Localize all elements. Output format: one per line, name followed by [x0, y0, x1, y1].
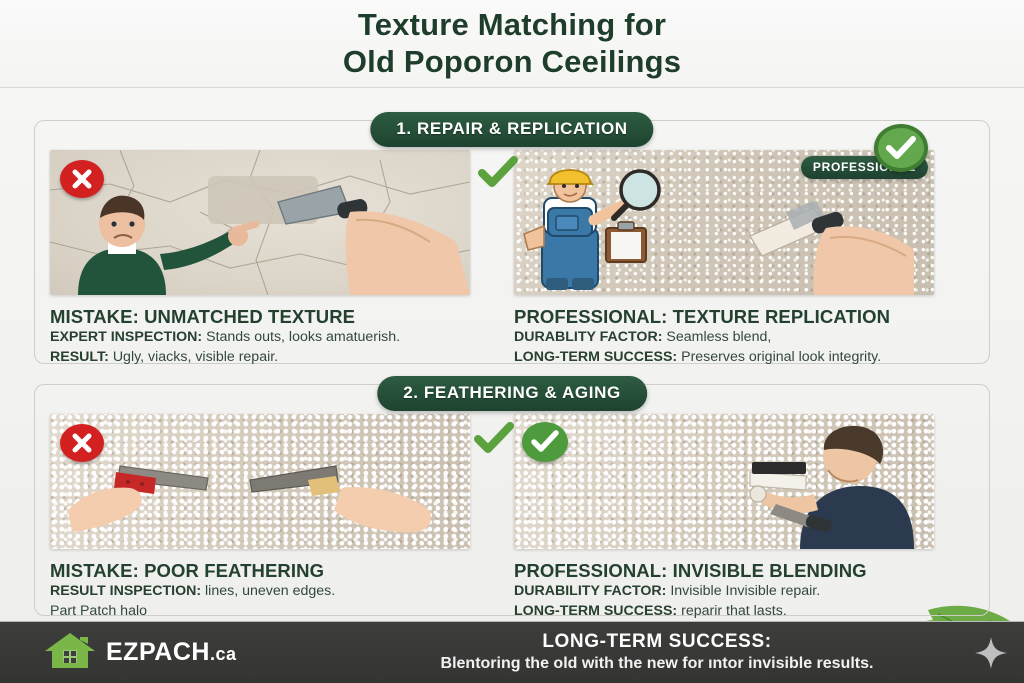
illustration-hand-with-knife [50, 150, 470, 295]
check-icon [478, 156, 518, 190]
page-title-line-1: Texture Matching for [358, 7, 666, 44]
caption-line-label: RESULT INSPECTION: [50, 583, 201, 599]
check-circle-icon [874, 124, 928, 172]
section-feathering-aging: 2. FEATHERING & AGING [34, 376, 990, 616]
brand-name-tld: .ca [210, 644, 237, 664]
x-circle-icon [60, 160, 104, 198]
section-badge-1: 1. REPAIR & REPLICATION [370, 112, 653, 147]
photo-scraping-ceiling [50, 414, 470, 549]
caption-line-text: Part Patch halo [50, 603, 147, 619]
section-repair-replication: 1. REPAIR & REPLICATION [34, 112, 990, 364]
caption-block: PROFESSIONAL: INVISIBLE BLENDING DURABIL… [514, 549, 934, 622]
caption-line-text: Invisible Invisible repair. [670, 583, 820, 599]
caption-line-label: LONG-TERM SUCCESS: [514, 349, 677, 365]
page-header: Texture Matching for Old Poporon Ceeilin… [0, 0, 1024, 88]
caption-block: MISTAKE: UNMATCHED TEXTURE EXPERT INSPEC… [50, 295, 470, 368]
panel-mistake-unmatched-texture: MISTAKE: UNMATCHED TEXTURE EXPERT INSPEC… [50, 150, 470, 368]
photo-rolling-new-texture [514, 414, 934, 549]
x-circle-icon [60, 424, 104, 462]
caption-heading: MISTAKE: UNMATCHED TEXTURE [50, 306, 470, 327]
page-title-line-2: Old Poporon Ceeilings [343, 44, 681, 81]
caption-line-text: Seamless blend, [666, 329, 771, 345]
sparkle-icon [974, 636, 1008, 675]
caption-line: DURABLITY FACTOR: Seamless blend, [514, 327, 934, 347]
panel-professional-invisible-blending: PROFESSIONAL: INVISIBLE BLENDING DURABIL… [514, 414, 934, 622]
caption-line-text: Ugly, viacks, visible repair. [113, 349, 278, 365]
panel-mistake-poor-feathering: MISTAKE: POOR FEATHERING RESULT INSPECTI… [50, 414, 470, 622]
caption-line-text: reparir that lasts. [681, 603, 787, 619]
brand-logo[interactable]: EZPACH.ca [0, 630, 330, 675]
house-icon [44, 630, 96, 675]
caption-heading: MISTAKE: POOR FEATHERING [50, 560, 470, 581]
caption-block: PROFESSIONAL: TEXTURE REPLICATION DURABL… [514, 295, 934, 368]
caption-line: Part Patch halo [50, 601, 470, 621]
caption-block: MISTAKE: POOR FEATHERING RESULT INSPECTI… [50, 549, 470, 622]
caption-heading: PROFESSIONAL: TEXTURE REPLICATION [514, 306, 934, 327]
check-icon [474, 422, 514, 456]
caption-line: LONG-TERM SUCCESS: Preserves original lo… [514, 347, 934, 367]
caption-line-label: RESULT: [50, 349, 109, 365]
photo-cracked-ceiling [50, 150, 470, 295]
footer-title: LONG-TERM SUCCESS: [330, 631, 984, 654]
caption-line-text: Stands outs, looks amatuerish. [206, 329, 400, 345]
caption-line: LONG-TERM SUCCESS: reparir that lasts. [514, 601, 934, 621]
infographic-page: Texture Matching for Old Poporon Ceeilin… [0, 0, 1024, 683]
section-1-panels: MISTAKE: UNMATCHED TEXTURE EXPERT INSPEC… [34, 150, 990, 368]
footer-subtitle: Blentoring the old with the new for ınto… [330, 654, 984, 675]
section-badge-2: 2. FEATHERING & AGING [377, 376, 647, 411]
caption-line-label: LONG-TERM SUCCESS: [514, 603, 677, 619]
brand-name: EZPACH.ca [106, 638, 236, 667]
caption-line: DURABILITY FACTOR: Invisible Invisible r… [514, 581, 934, 601]
caption-line: RESULT INSPECTION: lines, uneven edges. [50, 581, 470, 601]
illustration-two-scrapers [50, 414, 470, 549]
panel-professional-texture-replication: PROFESSIONAL PROFESSIONAL: TEXTURE REPLI… [514, 150, 934, 368]
caption-line-text: lines, uneven edges. [205, 583, 335, 599]
caption-line-text: Preserves original look integrity. [681, 349, 881, 365]
photo-popcorn-ceiling-inspection: PROFESSIONAL [514, 150, 934, 295]
caption-line-label: DURABLITY FACTOR: [514, 329, 662, 345]
caption-line-label: EXPERT INSPECTION: [50, 329, 202, 345]
footer-message: LONG-TERM SUCCESS: Blentoring the old wi… [330, 631, 1024, 675]
caption-line-label: DURABILITY FACTOR: [514, 583, 666, 599]
page-footer: EZPACH.ca LONG-TERM SUCCESS: Blentoring … [0, 621, 1024, 683]
check-circle-icon [522, 422, 568, 462]
brand-name-main: EZPACH [106, 638, 210, 666]
caption-heading: PROFESSIONAL: INVISIBLE BLENDING [514, 560, 934, 581]
caption-line: EXPERT INSPECTION: Stands outs, looks am… [50, 327, 470, 347]
section-2-panels: MISTAKE: POOR FEATHERING RESULT INSPECTI… [34, 414, 990, 622]
caption-line: RESULT: Ugly, viacks, visible repair. [50, 347, 470, 367]
illustration-man-rolling-texture [514, 414, 914, 549]
